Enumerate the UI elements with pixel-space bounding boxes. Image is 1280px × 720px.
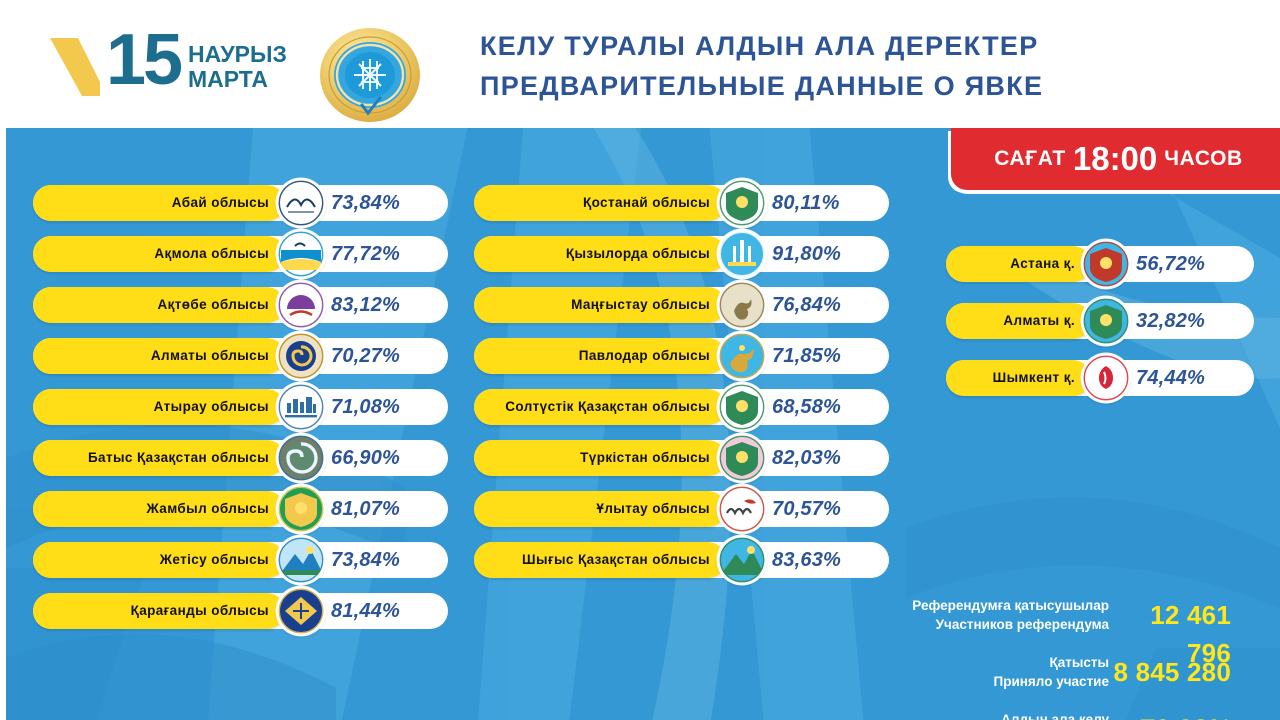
region-row[interactable]: Қостанай облысы 80,11% [474,185,889,221]
stat-value: 8 845 280 [1113,653,1231,691]
turnout-percent: 71,08% [331,389,400,425]
turnout-percent: 81,07% [331,491,400,527]
turnout-percent: 83,63% [772,542,841,578]
region-name: Маңғыстау облысы [480,287,710,323]
region-row[interactable]: Қарағанды облысы 81,44% [33,593,448,629]
region-name: Ақтөбе облысы [39,287,269,323]
region-row[interactable]: Түркістан облысы 82,03% [474,440,889,476]
abai-emblem-icon [277,179,325,227]
region-row[interactable]: Солтүстік Қазақстан облысы 68,58% [474,389,889,425]
header-titles: КЕЛУ ТУРАЛЫ АЛДЫН АЛА ДЕРЕКТЕР ПРЕДВАРИТ… [480,26,1043,106]
almaty-city-emblem-icon [1082,297,1130,345]
almaty-oblysy-emblem-icon [277,332,325,380]
region-row[interactable]: Атырау облысы 71,08% [33,389,448,425]
region-name: Алматы қ. [952,303,1075,339]
region-name: Солтүстік Қазақстан облысы [480,389,710,425]
region-name: Павлодар облысы [480,338,710,374]
turnout-percent: 70,27% [331,338,400,374]
turnout-percent: 82,03% [772,440,841,476]
shygys-qazaqstan-emblem-icon [718,536,766,584]
region-name: Түркістан облысы [480,440,710,476]
logo-month-ru: МАРТА [188,67,287,92]
region-name: Батыс Қазақстан облысы [39,440,269,476]
astana-emblem-icon [1082,240,1130,288]
infographic-page: 15 НАУРЫЗ МАРТА [0,0,1280,720]
region-row[interactable]: Астана қ. 56,72% [946,246,1254,282]
shymkent-emblem-icon [1082,354,1130,402]
region-row[interactable]: Маңғыстау облысы 76,84% [474,287,889,323]
region-name: Алматы облысы [39,338,269,374]
stat-labels: ҚатыстыПриняло участие [889,653,1109,691]
region-row[interactable]: Абай облысы 73,84% [33,185,448,221]
region-row[interactable]: Ақтөбе облысы 83,12% [33,287,448,323]
region-row[interactable]: Ұлытау облысы 70,57% [474,491,889,527]
stat-label-ru: Участников референдума [889,615,1109,634]
title-kk: КЕЛУ ТУРАЛЫ АЛДЫН АЛА ДЕРЕКТЕР [480,26,1043,66]
qaragandy-emblem-icon [277,587,325,635]
region-row[interactable]: Алматы облысы 70,27% [33,338,448,374]
region-name: Шығыс Қазақстан облысы [480,542,710,578]
turnout-percent: 91,80% [772,236,841,272]
time-prefix-label: САҒАТ [994,147,1066,171]
stat-labels: Алдын ала келуПредварительная явка [889,710,1109,720]
stat-label-kk: Референдумға қатысушылар [889,596,1109,615]
time-banner: САҒАТ 18:00 ЧАСОВ [951,128,1280,190]
region-row[interactable]: Жетісу облысы 73,84% [33,542,448,578]
logo-month-kk: НАУРЫЗ [188,42,287,67]
logo-day: 15 [106,24,180,96]
soltustik-qazaqstan-emblem-icon [718,383,766,431]
main-panel: САҒАТ 18:00 ЧАСОВ Абай облысы 73,84%Ақмо… [6,128,1280,720]
region-name: Абай облысы [39,185,269,221]
cec-seal-icon [318,26,422,124]
turnout-percent: 76,84% [772,287,841,323]
title-ru: ПРЕДВАРИТЕЛЬНЫЕ ДАННЫЕ О ЯВКЕ [480,66,1043,106]
turnout-percent: 77,72% [331,236,400,272]
region-row[interactable]: Шығыс Қазақстан облысы 83,63% [474,542,889,578]
time-value: 18:00 [1073,140,1157,178]
pavlodar-emblem-icon [718,332,766,380]
region-name: Қарағанды облысы [39,593,269,629]
region-row[interactable]: Ақмола облысы 77,72% [33,236,448,272]
region-row[interactable]: Алматы қ. 32,82% [946,303,1254,339]
region-row[interactable]: Батыс Қазақстан облысы 66,90% [33,440,448,476]
qyzylorda-emblem-icon [718,230,766,278]
region-name: Жамбыл облысы [39,491,269,527]
stat-item: ҚатыстыПриняло участие8 845 280 [891,653,1231,706]
stat-label-kk: Алдын ала келу [889,710,1109,720]
mangystau-emblem-icon [718,281,766,329]
region-row[interactable]: Павлодар облысы 71,85% [474,338,889,374]
summary-stats: Референдумға қатысушыларУчастников рефер… [891,596,1231,720]
turnout-percent: 83,12% [331,287,400,323]
region-name: Ақмола облысы [39,236,269,272]
stat-label-ru: Приняло участие [889,672,1109,691]
region-row[interactable]: Жамбыл облысы 81,07% [33,491,448,527]
region-name: Жетісу облысы [39,542,269,578]
turnout-percent: 74,44% [1136,360,1205,396]
region-name: Ұлытау облысы [480,491,710,527]
region-name: Қызылорда облысы [480,236,710,272]
aqtobe-emblem-icon [277,281,325,329]
turnout-percent: 81,44% [331,593,400,629]
turnout-percent: 71,85% [772,338,841,374]
qostanai-emblem-icon [718,179,766,227]
turnout-percent: 73,84% [331,185,400,221]
region-name: Атырау облысы [39,389,269,425]
turnout-percent: 56,72% [1136,246,1205,282]
turnout-percent: 80,11% [772,185,840,221]
ulytau-emblem-icon [718,485,766,533]
atyrau-emblem-icon [277,383,325,431]
region-name: Қостанай облысы [480,185,710,221]
turnout-percent: 70,57% [772,491,841,527]
turkistan-emblem-icon [718,434,766,482]
region-row[interactable]: Шымкент қ. 74,44% [946,360,1254,396]
page-header: 15 НАУРЫЗ МАРТА [0,0,1280,128]
aqmola-emblem-icon [277,230,325,278]
region-name: Шымкент қ. [952,360,1075,396]
campaign-logo: 15 НАУРЫЗ МАРТА [48,28,263,100]
turnout-percent: 66,90% [331,440,400,476]
zhambyl-emblem-icon [277,485,325,533]
region-row[interactable]: Қызылорда облысы 91,80% [474,236,889,272]
stat-labels: Референдумға қатысушыларУчастников рефер… [889,596,1109,634]
turnout-percent: 73,84% [331,542,400,578]
stat-item: Референдумға қатысушыларУчастников рефер… [891,596,1231,649]
region-name: Астана қ. [952,246,1075,282]
turnout-percent: 32,82% [1136,303,1205,339]
turnout-percent: 68,58% [772,389,841,425]
stat-item: Алдын ала келуПредварительная явка70,98% [891,710,1231,720]
stat-value: 70,98% [1113,710,1231,720]
stat-label-kk: Қатысты [889,653,1109,672]
zhetisu-emblem-icon [277,536,325,584]
batys-qazaqstan-emblem-icon [277,434,325,482]
time-suffix-label: ЧАСОВ [1164,147,1243,171]
